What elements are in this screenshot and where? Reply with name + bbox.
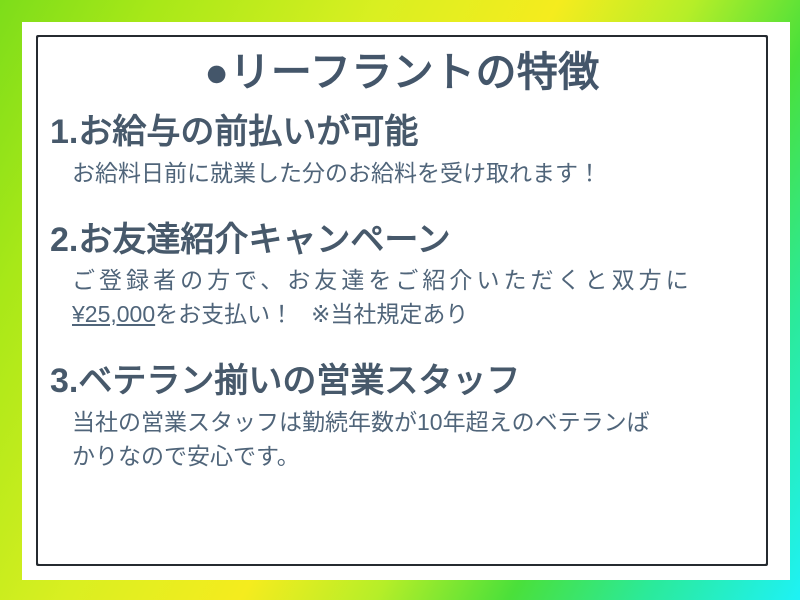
feature-list: 1.お給与の前払いが可能 お給料日前に就業した分のお給料を受け取れます！ 2.お… bbox=[36, 112, 768, 473]
feature-heading-2: 2.お友達紹介キャンペーン bbox=[50, 220, 758, 261]
feature-body-3-line-1: 当社の営業スタッフは勤続年数が10年超えのベテランば bbox=[72, 405, 758, 439]
feature-heading-1: 1.お給与の前払いが可能 bbox=[50, 112, 758, 153]
feature-body-2-line-1: ご登録者の方で、お友達をご紹介いただくと双方に bbox=[72, 263, 758, 297]
list-item: 2.お友達紹介キャンペーン ご登録者の方で、お友達をご紹介いただくと双方に ¥2… bbox=[36, 220, 768, 332]
feature-body-2-line-2: ¥25,000をお支払い！※当社規定あり bbox=[72, 297, 758, 331]
list-item: 3.ベテラン揃いの営業スタッフ 当社の営業スタッフは勤続年数が10年超えのベテラ… bbox=[36, 361, 768, 473]
referral-amount: ¥25,000 bbox=[72, 301, 155, 327]
feature-body-1: お給料日前に就業した分のお給料を受け取れます！ bbox=[50, 156, 758, 190]
slide-canvas: ●リーフラントの特徴 1.お給与の前払いが可能 お給料日前に就業した分のお給料を… bbox=[0, 0, 800, 600]
referral-note: ※当社規定あり bbox=[311, 301, 468, 327]
slide-content: ●リーフラントの特徴 1.お給与の前払いが可能 お給料日前に就業した分のお給料を… bbox=[36, 35, 768, 566]
feature-body-3-line-2: かりなので安心です。 bbox=[72, 439, 758, 473]
list-item: 1.お給与の前払いが可能 お給料日前に就業した分のお給料を受け取れます！ bbox=[36, 112, 768, 190]
feature-body-1-line-1: お給料日前に就業した分のお給料を受け取れます！ bbox=[72, 156, 758, 190]
feature-body-3: 当社の営業スタッフは勤続年数が10年超えのベテランば かりなので安心です。 bbox=[50, 405, 758, 473]
feature-body-2: ご登録者の方で、お友達をご紹介いただくと双方に ¥25,000をお支払い！※当社… bbox=[50, 263, 758, 331]
feature-heading-3: 3.ベテラン揃いの営業スタッフ bbox=[50, 361, 758, 402]
referral-amount-suffix: をお支払い！ bbox=[155, 301, 293, 327]
page-title: ●リーフラントの特徴 bbox=[36, 35, 768, 96]
